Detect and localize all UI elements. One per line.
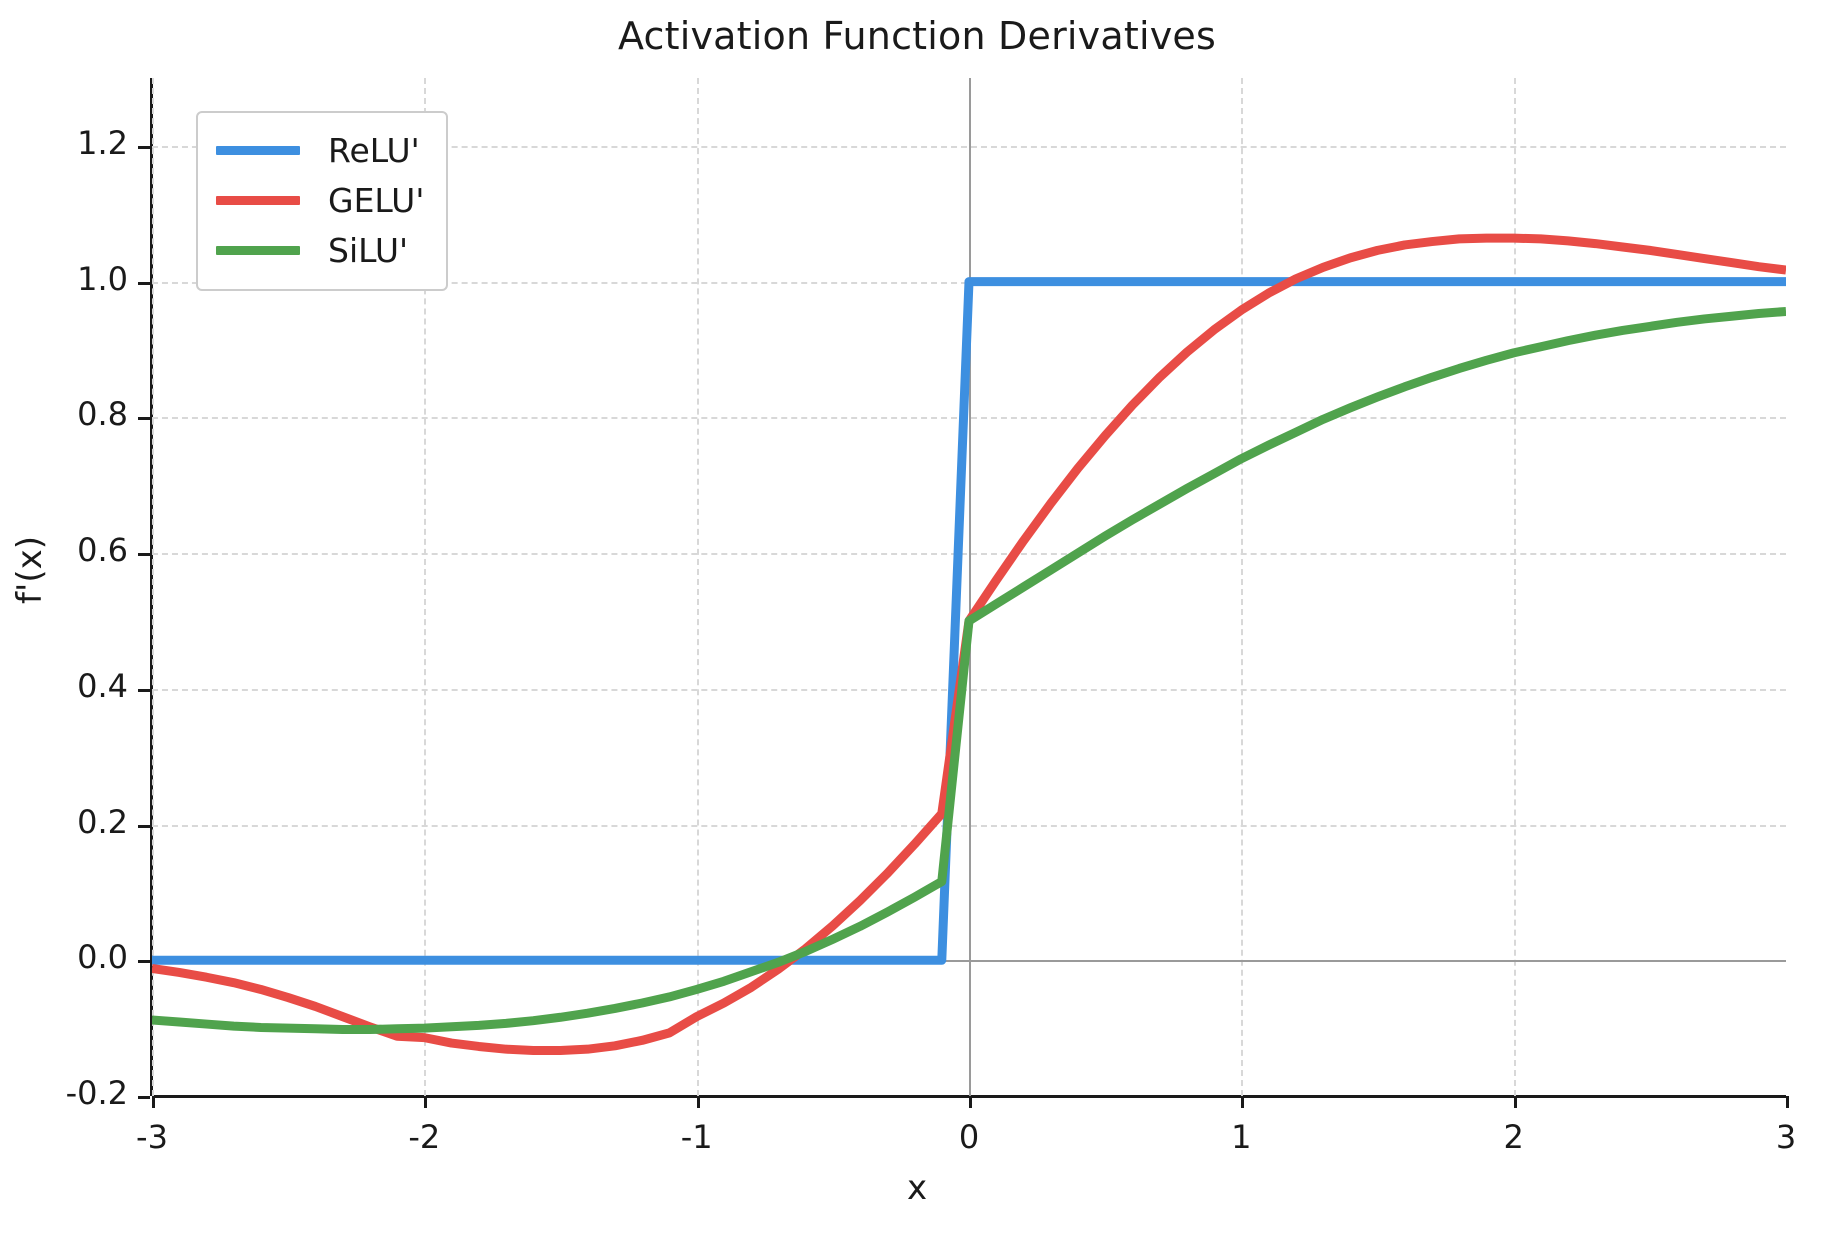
legend-color-swatch [216, 146, 300, 155]
y-tick-mark [138, 689, 150, 692]
x-tick-mark [152, 1096, 155, 1108]
y-tick-label: 0.2 [77, 803, 128, 841]
y-tick-mark [138, 282, 150, 285]
x-tick-mark [697, 1096, 700, 1108]
x-tick-label: 2 [1503, 1118, 1523, 1156]
y-tick-label: 0.0 [77, 938, 128, 976]
y-tick-label: 1.0 [77, 260, 128, 298]
y-tick-mark [138, 825, 150, 828]
y-tick-label: 0.6 [77, 531, 128, 569]
x-tick-mark [424, 1096, 427, 1108]
x-tick-mark [969, 1096, 972, 1108]
y-tick-label: 0.8 [77, 395, 128, 433]
y-tick-mark [138, 1096, 150, 1099]
y-tick-label: 1.2 [77, 124, 128, 162]
y-tick-mark [138, 960, 150, 963]
x-tick-label: -1 [681, 1118, 713, 1156]
chart-title: Activation Function Derivatives [0, 14, 1834, 58]
x-axis-label: x [0, 1168, 1834, 1208]
y-tick-mark [138, 417, 150, 420]
y-tick-label: 0.4 [77, 667, 128, 705]
legend-item-label: ReLU' [328, 131, 420, 170]
x-tick-label: 3 [1776, 1118, 1796, 1156]
x-tick-label: 0 [959, 1118, 979, 1156]
legend-item-label: GELU' [328, 181, 424, 220]
x-tick-mark [1241, 1096, 1244, 1108]
x-tick-label: -3 [136, 1118, 168, 1156]
y-tick-label: -0.2 [66, 1074, 128, 1112]
x-tick-label: 1 [1231, 1118, 1251, 1156]
legend-color-swatch [216, 246, 300, 255]
legend-item[interactable]: ReLU' [216, 125, 424, 175]
y-axis-label: f'(x) [10, 500, 50, 640]
legend-item-label: SiLU' [328, 231, 408, 270]
x-tick-label: -2 [408, 1118, 440, 1156]
legend-item[interactable]: SiLU' [216, 225, 424, 275]
legend-color-swatch [216, 196, 300, 205]
chart-figure: Activation Function Derivatives -0.20.00… [0, 0, 1834, 1234]
x-tick-mark [1514, 1096, 1517, 1108]
series-line [152, 311, 1786, 1029]
y-tick-mark [138, 146, 150, 149]
legend[interactable]: ReLU'GELU'SiLU' [196, 111, 448, 291]
x-tick-mark [1786, 1096, 1789, 1108]
legend-item[interactable]: GELU' [216, 175, 424, 225]
y-tick-mark [138, 553, 150, 556]
